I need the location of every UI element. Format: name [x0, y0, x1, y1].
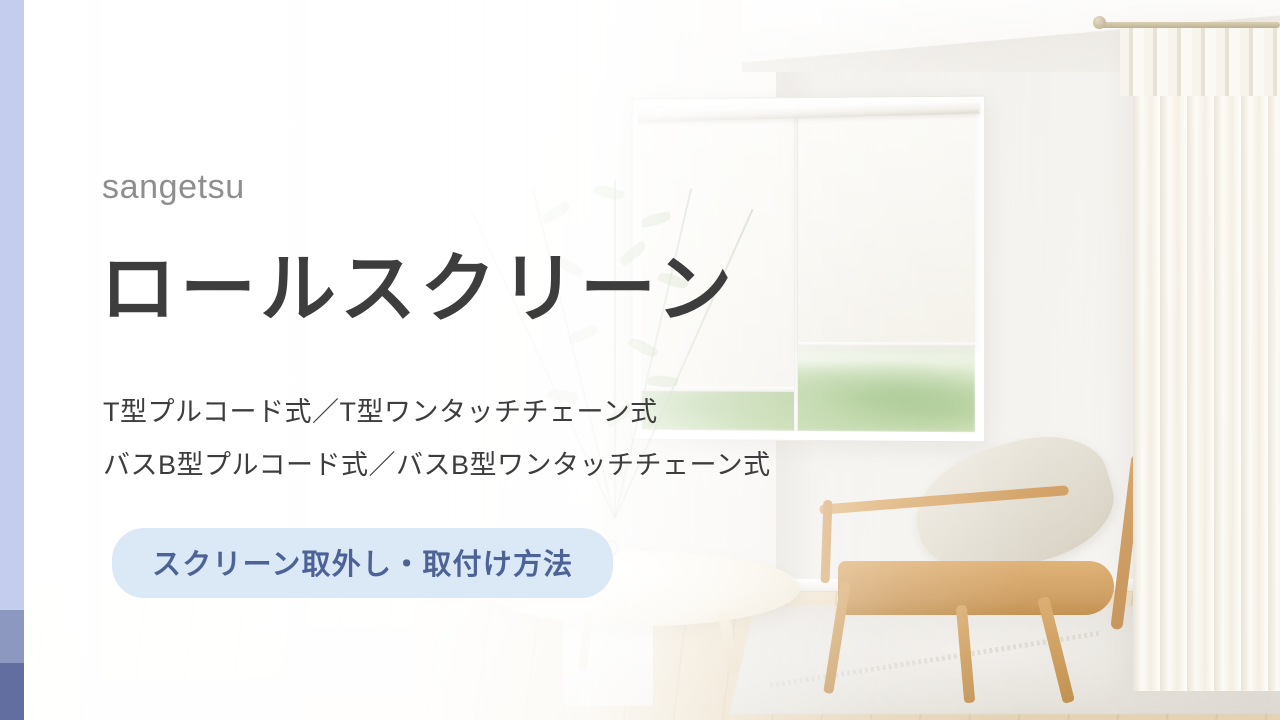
brand-logo: sangetsu [102, 168, 245, 207]
edge-strip-segment-middle [0, 610, 24, 663]
edge-strip-segment-bottom [0, 663, 24, 720]
title-card: sangetsu ロールスクリーン T型プルコード式／T型ワンタッチチェーン式 … [0, 0, 1280, 720]
edge-strip-segment-top [0, 0, 24, 610]
page-title: ロールスクリーン [100, 250, 736, 330]
subtitle-line-2: バスB型プルコード式／バスB型ワンタッチチェーン式 [103, 443, 771, 482]
subtitle-line-1: T型プルコード式／T型ワンタッチチェーン式 [103, 390, 658, 429]
title-content: sangetsu ロールスクリーン T型プルコード式／T型ワンタッチチェーン式 … [100, 0, 1000, 720]
topic-badge: スクリーン取外し・取付け方法 [112, 528, 613, 598]
left-edge-strip [0, 0, 24, 720]
